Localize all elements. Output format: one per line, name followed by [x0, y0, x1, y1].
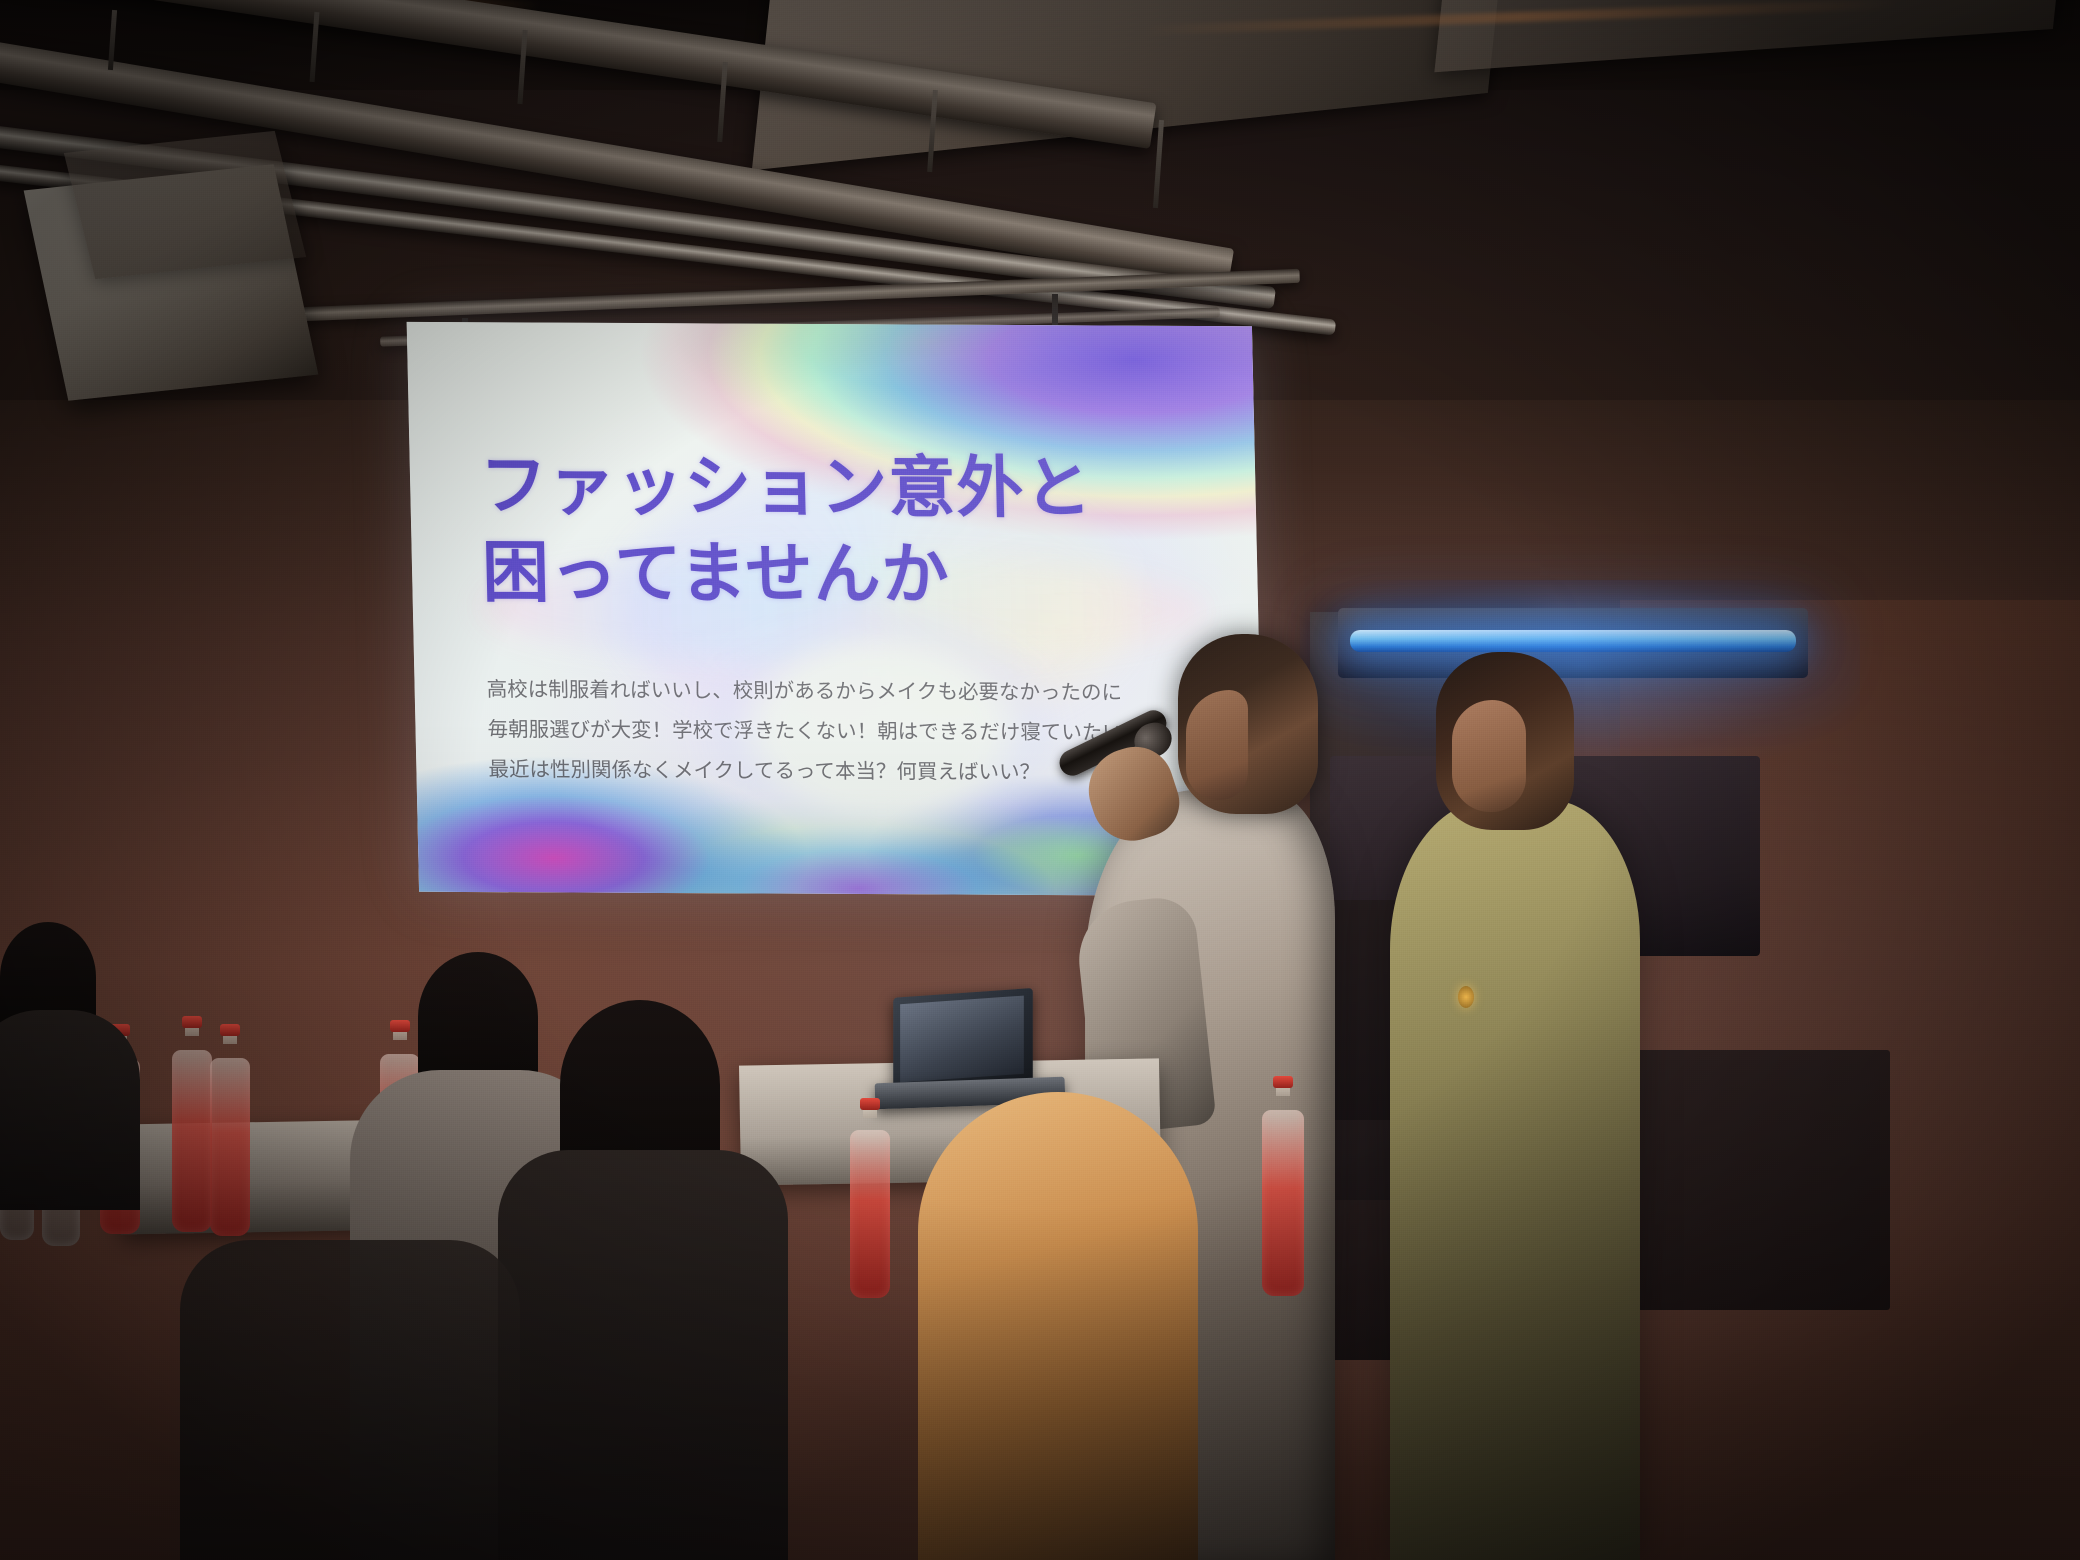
photo-grain	[0, 0, 2080, 1560]
room-photo-scene: ファッション意外と 困ってませんか 高校は制服着ればいいし、校則があるからメイク…	[0, 0, 2080, 1560]
